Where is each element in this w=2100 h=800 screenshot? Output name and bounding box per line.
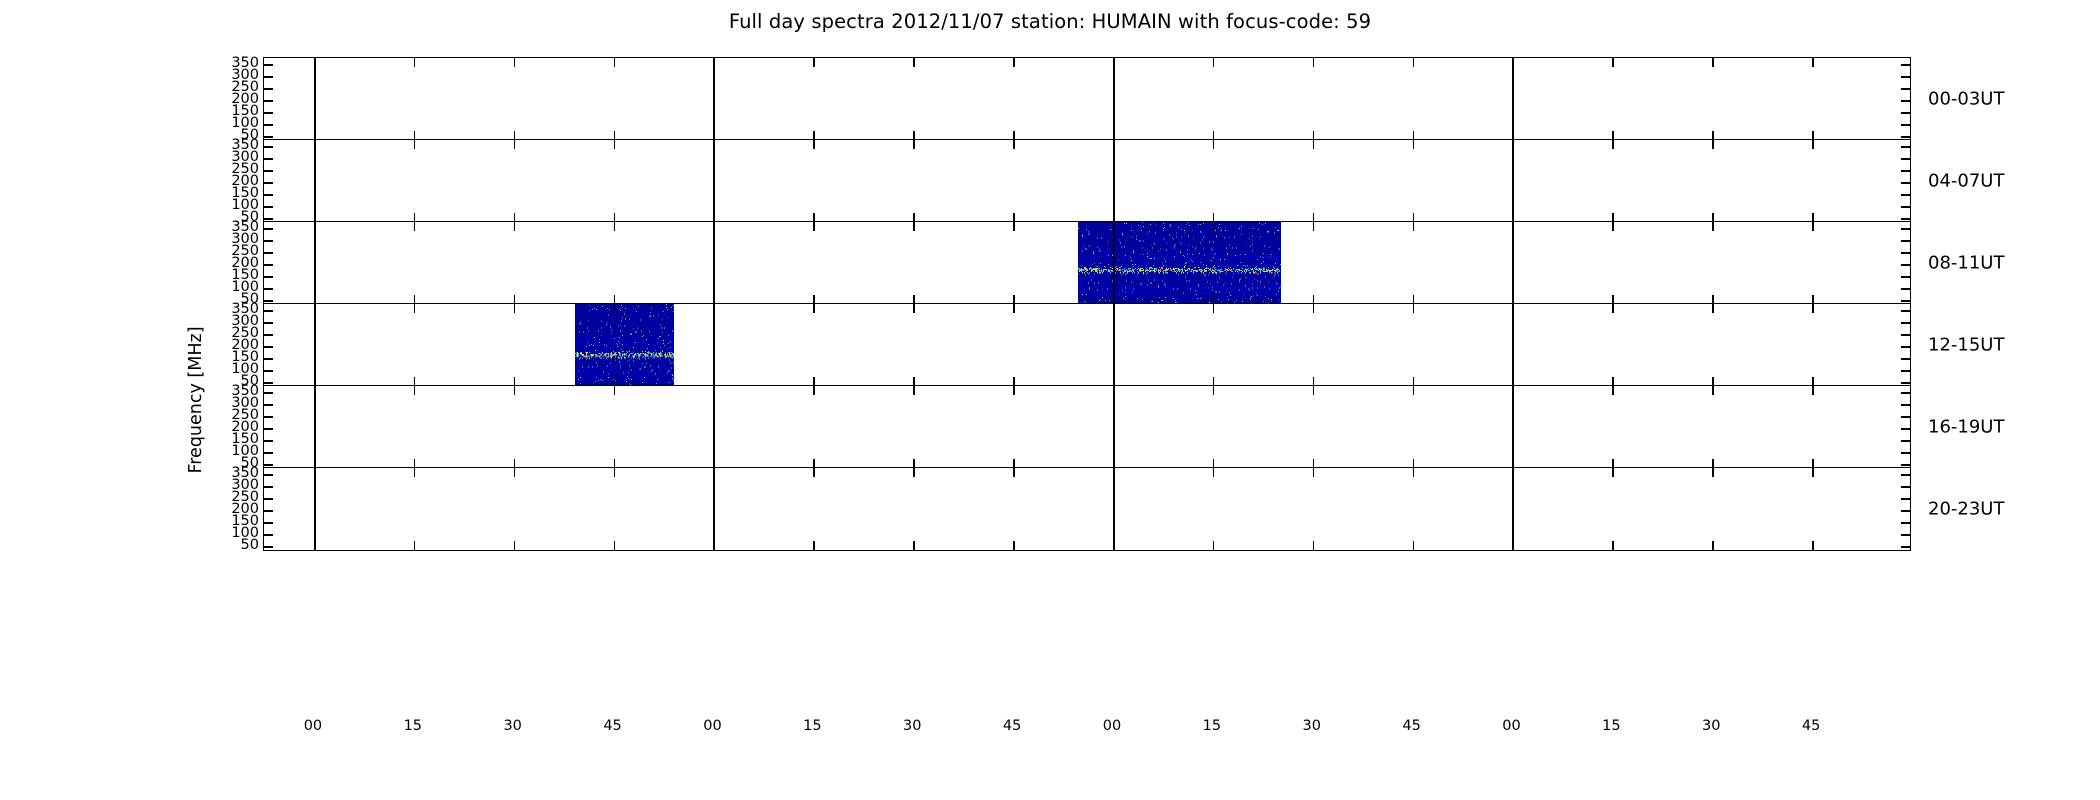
y-axis-tick	[1901, 264, 1910, 266]
y-axis-tick	[1901, 370, 1910, 372]
y-axis-tick	[1901, 334, 1910, 336]
spectrogram-panel-04-07ut	[263, 139, 1911, 223]
y-axis-tick	[1901, 194, 1910, 196]
x-axis-tick	[514, 386, 516, 395]
x-axis-tick-label: 15	[1602, 718, 1620, 734]
spectrogram-panel-00-03ut	[263, 57, 1911, 141]
x-axis-tick-label: 15	[404, 718, 422, 734]
x-axis-tick-label: 15	[803, 718, 821, 734]
y-axis-tick	[1901, 206, 1910, 208]
x-axis-tick	[1712, 140, 1714, 149]
y-axis-tick	[1901, 522, 1910, 524]
x-axis-tick	[1812, 386, 1814, 395]
y-axis-tick	[1901, 146, 1910, 148]
y-axis-tick	[264, 240, 273, 242]
y-axis-tick	[264, 206, 273, 208]
x-axis-major-gridline	[1512, 140, 1514, 222]
x-axis-tick	[1812, 541, 1814, 550]
x-axis-tick	[913, 541, 915, 550]
spectrogram-panel-12-15ut	[263, 303, 1911, 387]
x-axis-tick	[414, 222, 416, 231]
x-axis-tick	[1812, 140, 1814, 149]
x-axis-tick	[1612, 140, 1614, 149]
y-axis-tick	[264, 322, 273, 324]
y-axis-tick	[1901, 322, 1910, 324]
y-axis-tick	[1901, 288, 1910, 290]
x-axis-tick	[1313, 541, 1315, 550]
x-axis-tick	[1013, 140, 1015, 149]
x-axis-major-gridline	[1512, 58, 1514, 140]
x-axis-tick	[813, 468, 815, 477]
x-axis-tick	[514, 58, 516, 67]
x-axis-tick	[913, 140, 915, 149]
x-axis-tick	[514, 140, 516, 149]
y-axis-tick	[264, 194, 273, 196]
x-axis-major-gridline	[314, 222, 316, 304]
x-axis-tick	[813, 140, 815, 149]
y-axis-tick	[264, 310, 273, 312]
x-axis-tick	[614, 304, 616, 313]
y-axis-tick	[264, 370, 273, 372]
x-axis-tick-label: 00	[703, 718, 721, 734]
y-axis-tick	[264, 498, 273, 500]
x-axis-major-gridline	[1113, 140, 1115, 222]
y-axis-tick	[264, 522, 273, 524]
x-axis-major-gridline	[713, 140, 715, 222]
y-axis-tick	[1901, 310, 1910, 312]
x-axis-major-gridline	[1113, 468, 1115, 550]
x-axis-major-gridline	[713, 58, 715, 140]
x-axis-tick	[1413, 222, 1415, 231]
y-axis-tick	[264, 64, 273, 66]
y-axis-tick-labels: 35030025020015010050	[203, 467, 259, 551]
spectrogram-canvas	[1078, 222, 1281, 304]
x-axis-tick	[614, 222, 616, 231]
x-axis-tick	[514, 468, 516, 477]
panel-plot-area	[264, 58, 1910, 140]
y-axis-tick	[264, 264, 273, 266]
y-axis-tick	[264, 452, 273, 454]
x-axis-major-gridline	[1113, 58, 1115, 140]
x-axis-tick	[1013, 541, 1015, 550]
x-axis-tick	[813, 304, 815, 313]
panel-time-range-label: 04-07UT	[1928, 171, 2004, 192]
x-axis-tick	[1413, 468, 1415, 477]
y-axis-tick	[264, 440, 273, 442]
x-axis-tick	[913, 386, 915, 395]
x-axis-tick	[1812, 222, 1814, 231]
x-axis-major-gridline	[1512, 468, 1514, 550]
x-axis-major-gridline	[314, 58, 316, 140]
y-axis-tick	[1901, 64, 1910, 66]
y-axis-tick	[1901, 228, 1910, 230]
spectrogram-panel-20-23ut	[263, 467, 1911, 551]
x-axis-tick	[1413, 304, 1415, 313]
y-axis-tick	[264, 404, 273, 406]
x-axis-tick-label: 00	[1103, 718, 1121, 734]
x-axis-tick	[913, 58, 915, 67]
y-axis-tick	[1901, 510, 1910, 512]
y-axis-tick	[264, 300, 273, 302]
y-axis-tick	[1901, 276, 1910, 278]
y-axis-tick	[264, 464, 273, 466]
y-axis-tick	[1901, 252, 1910, 254]
y-axis-tick	[264, 158, 273, 160]
y-axis-tick	[264, 358, 273, 360]
y-axis-tick-label: 50	[241, 538, 259, 553]
x-axis-tick	[1013, 222, 1015, 231]
x-axis-tick	[614, 541, 616, 550]
x-axis-tick	[1213, 140, 1215, 149]
x-axis-tick	[1413, 58, 1415, 67]
y-axis-tick	[264, 392, 273, 394]
y-axis-tick	[264, 346, 273, 348]
x-axis-major-gridline	[1113, 386, 1115, 468]
x-axis-tick	[414, 140, 416, 149]
y-axis-tick	[1901, 76, 1910, 78]
x-axis-tick-label: 45	[1402, 718, 1420, 734]
x-axis-tick-labels: 00153045001530450015304500153045	[0, 718, 2100, 740]
x-axis-tick	[614, 58, 616, 67]
x-axis-tick-label: 30	[1702, 718, 1720, 734]
y-axis-tick	[264, 510, 273, 512]
panel-plot-area	[264, 386, 1910, 468]
y-axis-tick	[264, 170, 273, 172]
x-axis-tick	[614, 140, 616, 149]
y-axis-tick	[264, 76, 273, 78]
y-axis-tick	[1901, 136, 1910, 138]
y-axis-tick	[1901, 100, 1910, 102]
x-axis-tick	[1413, 541, 1415, 550]
y-axis-tick	[1901, 486, 1910, 488]
x-axis-tick	[414, 304, 416, 313]
y-axis-tick	[1901, 170, 1910, 172]
x-axis-tick	[813, 386, 815, 395]
y-axis-tick-labels: 35030025020015010050	[203, 221, 259, 305]
spectrogram-data-block	[1078, 222, 1281, 304]
y-axis-tick	[264, 112, 273, 114]
x-axis-tick	[1812, 468, 1814, 477]
y-axis-tick	[264, 252, 273, 254]
x-axis-tick	[1712, 541, 1714, 550]
y-axis-tick	[1901, 346, 1910, 348]
x-axis-tick	[1013, 386, 1015, 395]
x-axis-tick	[1313, 386, 1315, 395]
x-axis-tick	[514, 304, 516, 313]
x-axis-tick	[1612, 468, 1614, 477]
x-axis-tick	[913, 468, 915, 477]
x-axis-tick	[414, 468, 416, 477]
y-axis-tick	[264, 182, 273, 184]
panel-time-range-label: 20-23UT	[1928, 499, 2004, 520]
x-axis-tick	[1213, 468, 1215, 477]
y-axis-tick	[264, 146, 273, 148]
page-title: Full day spectra 2012/11/07 station: HUM…	[0, 10, 2100, 33]
x-axis-tick	[1612, 222, 1614, 231]
x-axis-tick-label: 30	[1302, 718, 1320, 734]
y-axis-tick	[1901, 404, 1910, 406]
x-axis-major-gridline	[713, 468, 715, 550]
x-axis-tick	[1712, 468, 1714, 477]
x-axis-tick	[1213, 386, 1215, 395]
x-axis-tick	[1313, 58, 1315, 67]
spectrogram-panel-08-11ut	[263, 221, 1911, 305]
y-axis-tick	[264, 334, 273, 336]
spectrogram-canvas	[575, 304, 674, 386]
x-axis-tick	[414, 58, 416, 67]
x-axis-tick	[1313, 222, 1315, 231]
y-axis-tick	[1901, 440, 1910, 442]
y-axis-tick	[1901, 158, 1910, 160]
x-axis-major-gridline	[713, 386, 715, 468]
y-axis-tick	[264, 416, 273, 418]
panel-plot-area	[264, 140, 1910, 222]
y-axis-tick-labels: 35030025020015010050	[203, 139, 259, 223]
x-axis-tick-label: 45	[1802, 718, 1820, 734]
y-axis-tick	[1901, 392, 1910, 394]
x-axis-major-gridline	[314, 304, 316, 386]
y-axis-tick-labels: 35030025020015010050	[203, 385, 259, 469]
x-axis-major-gridline	[1512, 304, 1514, 386]
x-axis-tick	[813, 222, 815, 231]
y-axis-tick	[264, 288, 273, 290]
x-axis-tick	[1313, 140, 1315, 149]
x-axis-major-gridline	[314, 140, 316, 222]
x-axis-tick	[1013, 468, 1015, 477]
y-axis-tick	[1901, 474, 1910, 476]
y-axis-tick	[264, 88, 273, 90]
y-axis-tick	[1901, 182, 1910, 184]
y-axis-tick	[264, 382, 273, 384]
x-axis-major-gridline	[713, 222, 715, 304]
x-axis-tick	[1413, 386, 1415, 395]
x-axis-tick	[1213, 222, 1215, 231]
x-axis-tick	[1213, 58, 1215, 67]
x-axis-tick	[1812, 58, 1814, 67]
y-axis-tick	[1901, 428, 1910, 430]
x-axis-tick	[1812, 304, 1814, 313]
y-axis-tick	[264, 218, 273, 220]
x-axis-tick	[1712, 386, 1714, 395]
x-axis-tick	[1013, 304, 1015, 313]
panel-time-range-label: 12-15UT	[1928, 335, 2004, 356]
y-axis-tick	[264, 124, 273, 126]
x-axis-tick	[1013, 58, 1015, 67]
x-axis-major-gridline	[1512, 222, 1514, 304]
x-axis-tick	[913, 304, 915, 313]
x-axis-major-gridline	[1113, 222, 1115, 304]
x-axis-tick-label: 00	[1502, 718, 1520, 734]
x-axis-tick	[414, 386, 416, 395]
y-axis-tick	[264, 534, 273, 536]
y-axis-tick	[1901, 382, 1910, 384]
x-axis-tick	[414, 541, 416, 550]
x-axis-tick	[1712, 58, 1714, 67]
y-axis-tick	[264, 546, 273, 548]
spectrogram-data-block	[575, 304, 674, 386]
x-axis-tick	[514, 222, 516, 231]
y-axis-tick	[264, 428, 273, 430]
y-axis-tick	[1901, 416, 1910, 418]
y-axis-tick	[1901, 498, 1910, 500]
x-axis-tick	[1712, 222, 1714, 231]
y-axis-tick-labels: 35030025020015010050	[203, 57, 259, 141]
x-axis-tick	[913, 222, 915, 231]
x-axis-tick	[1612, 541, 1614, 550]
x-axis-tick	[813, 58, 815, 67]
panel-plot-area	[264, 304, 1910, 386]
x-axis-tick-label: 00	[304, 718, 322, 734]
x-axis-tick	[1213, 304, 1215, 313]
y-axis-tick	[1901, 112, 1910, 114]
x-axis-tick-label: 30	[503, 718, 521, 734]
panel-time-range-label: 16-19UT	[1928, 417, 2004, 438]
y-axis-tick	[1901, 88, 1910, 90]
panel-plot-area	[264, 222, 1910, 304]
panel-time-range-label: 00-03UT	[1928, 89, 2004, 110]
y-axis-tick	[1901, 218, 1910, 220]
y-axis-tick-labels: 35030025020015010050	[203, 303, 259, 387]
x-axis-tick	[1413, 140, 1415, 149]
x-axis-major-gridline	[314, 386, 316, 468]
x-axis-tick	[514, 541, 516, 550]
x-axis-major-gridline	[713, 304, 715, 386]
x-axis-tick	[614, 468, 616, 477]
y-axis-tick	[1901, 124, 1910, 126]
x-axis-tick	[813, 541, 815, 550]
x-axis-tick-label: 45	[1003, 718, 1021, 734]
y-axis-tick	[1901, 300, 1910, 302]
x-axis-tick	[1612, 304, 1614, 313]
x-axis-tick	[1313, 304, 1315, 313]
y-axis-tick	[1901, 534, 1910, 536]
y-axis-tick	[1901, 464, 1910, 466]
y-axis-tick	[1901, 240, 1910, 242]
spectrogram-panel-16-19ut	[263, 385, 1911, 469]
y-axis-tick	[264, 276, 273, 278]
x-axis-tick	[1612, 58, 1614, 67]
y-axis-tick	[264, 228, 273, 230]
panel-time-range-label: 08-11UT	[1928, 253, 2004, 274]
x-axis-tick-label: 15	[1203, 718, 1221, 734]
x-axis-tick	[614, 386, 616, 395]
y-axis-tick	[264, 136, 273, 138]
x-axis-major-gridline	[314, 468, 316, 550]
x-axis-tick-label: 45	[603, 718, 621, 734]
x-axis-tick-label: 30	[903, 718, 921, 734]
y-axis-tick	[264, 486, 273, 488]
x-axis-tick	[1712, 304, 1714, 313]
y-axis-tick	[264, 474, 273, 476]
y-axis-tick	[264, 100, 273, 102]
panel-plot-area	[264, 468, 1910, 550]
x-axis-tick	[1313, 468, 1315, 477]
x-axis-tick	[1213, 541, 1215, 550]
y-axis-tick	[1901, 452, 1910, 454]
x-axis-major-gridline	[1512, 386, 1514, 468]
y-axis-tick	[1901, 546, 1910, 548]
x-axis-tick	[1612, 386, 1614, 395]
x-axis-major-gridline	[1113, 304, 1115, 386]
spectrogram-figure: Full day spectra 2012/11/07 station: HUM…	[0, 0, 2100, 800]
y-axis-tick	[1901, 358, 1910, 360]
